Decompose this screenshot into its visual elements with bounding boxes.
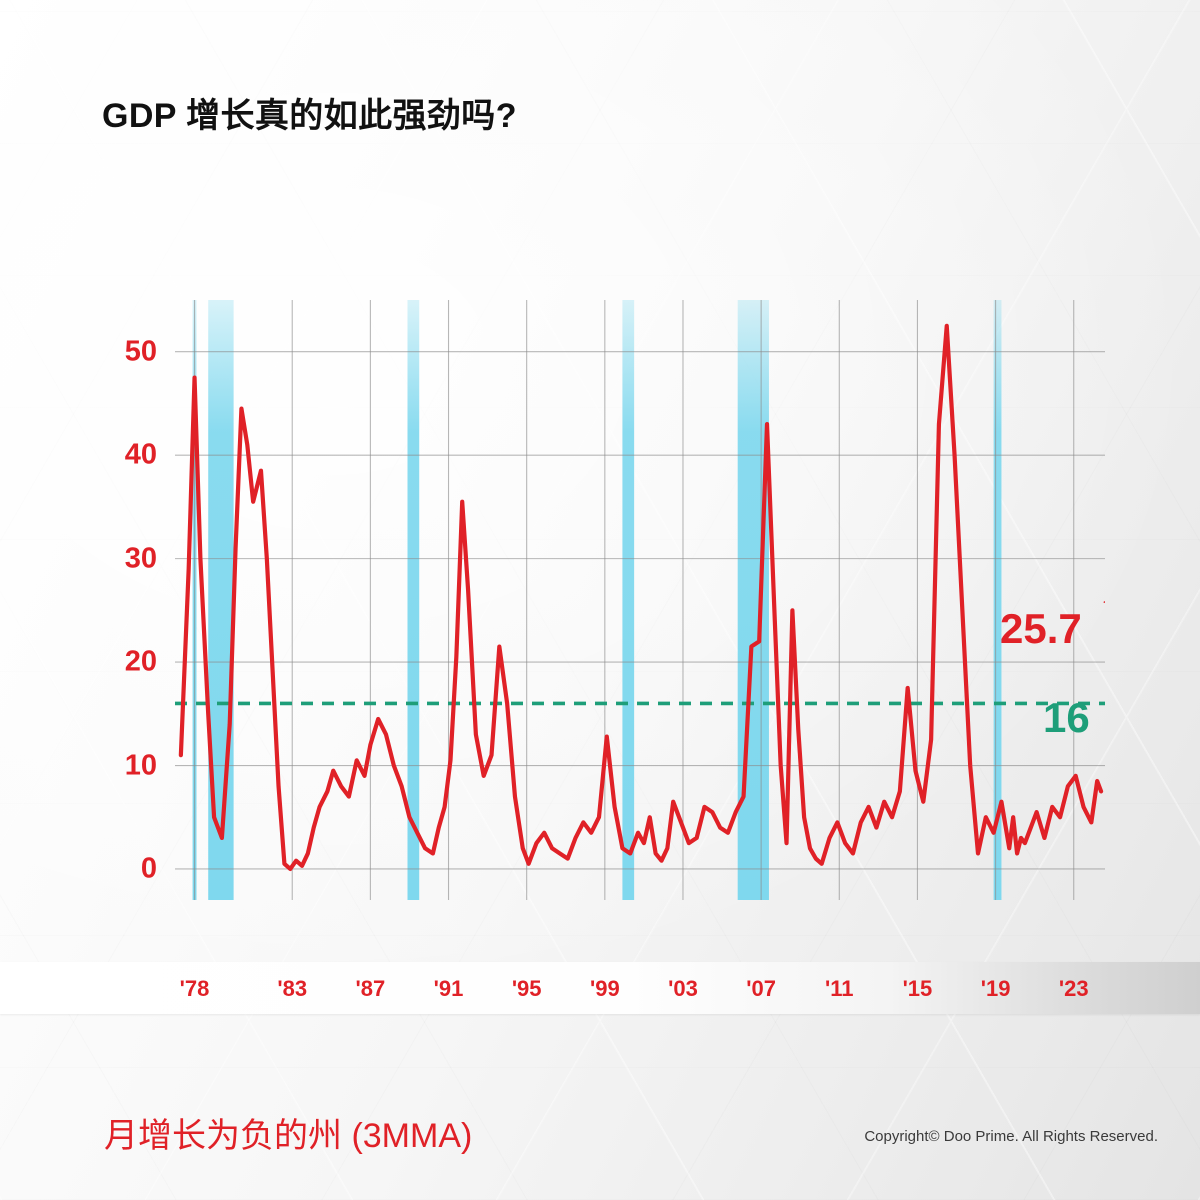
y-axis-tick-40: 40 [97,439,157,472]
x-axis-tick-2003: '03 [668,976,698,1002]
x-axis-tick-1978: '78 [180,976,210,1002]
chart-plot-area [175,300,1105,900]
y-axis-tick-10: 10 [97,749,157,782]
poster-canvas: GDP 增长真的如此强劲吗? 01020304050 '78'83'87'91'… [0,0,1200,1200]
x-axis-tick-2023: '23 [1059,976,1089,1002]
y-axis-tick-0: 0 [97,852,157,885]
x-axis-tick-2011: '11 [825,976,854,1002]
data-line [181,326,1101,869]
x-axis-tick-1999: '99 [590,976,620,1002]
recession-band [738,300,769,900]
x-axis-tick-2015: '15 [903,976,933,1002]
copyright-text: Copyright© Doo Prime. All Rights Reserve… [864,1128,1158,1145]
x-axis-tick-1987: '87 [356,976,386,1002]
x-axis-tick-1995: '95 [512,976,542,1002]
y-axis-tick-50: 50 [97,335,157,368]
x-axis-tick-2007: '07 [746,976,776,1002]
line-chart [175,300,1105,900]
recession-band [622,300,634,900]
last-value-annotation: 25.7 [1000,605,1082,653]
x-axis-tick-1991: '91 [434,976,464,1002]
x-axis-tick-2019: '19 [981,976,1011,1002]
chart-caption: 月增长为负的州 (3MMA) [104,1108,472,1157]
y-axis-tick-20: 20 [97,646,157,679]
x-axis-tick-1983: '83 [277,976,307,1002]
average-value-annotation: 16 [1043,694,1090,742]
y-axis-tick-30: 30 [97,542,157,575]
last-value-arrow-icon [1103,591,1105,613]
page-title: GDP 增长真的如此强劲吗? [102,88,517,137]
